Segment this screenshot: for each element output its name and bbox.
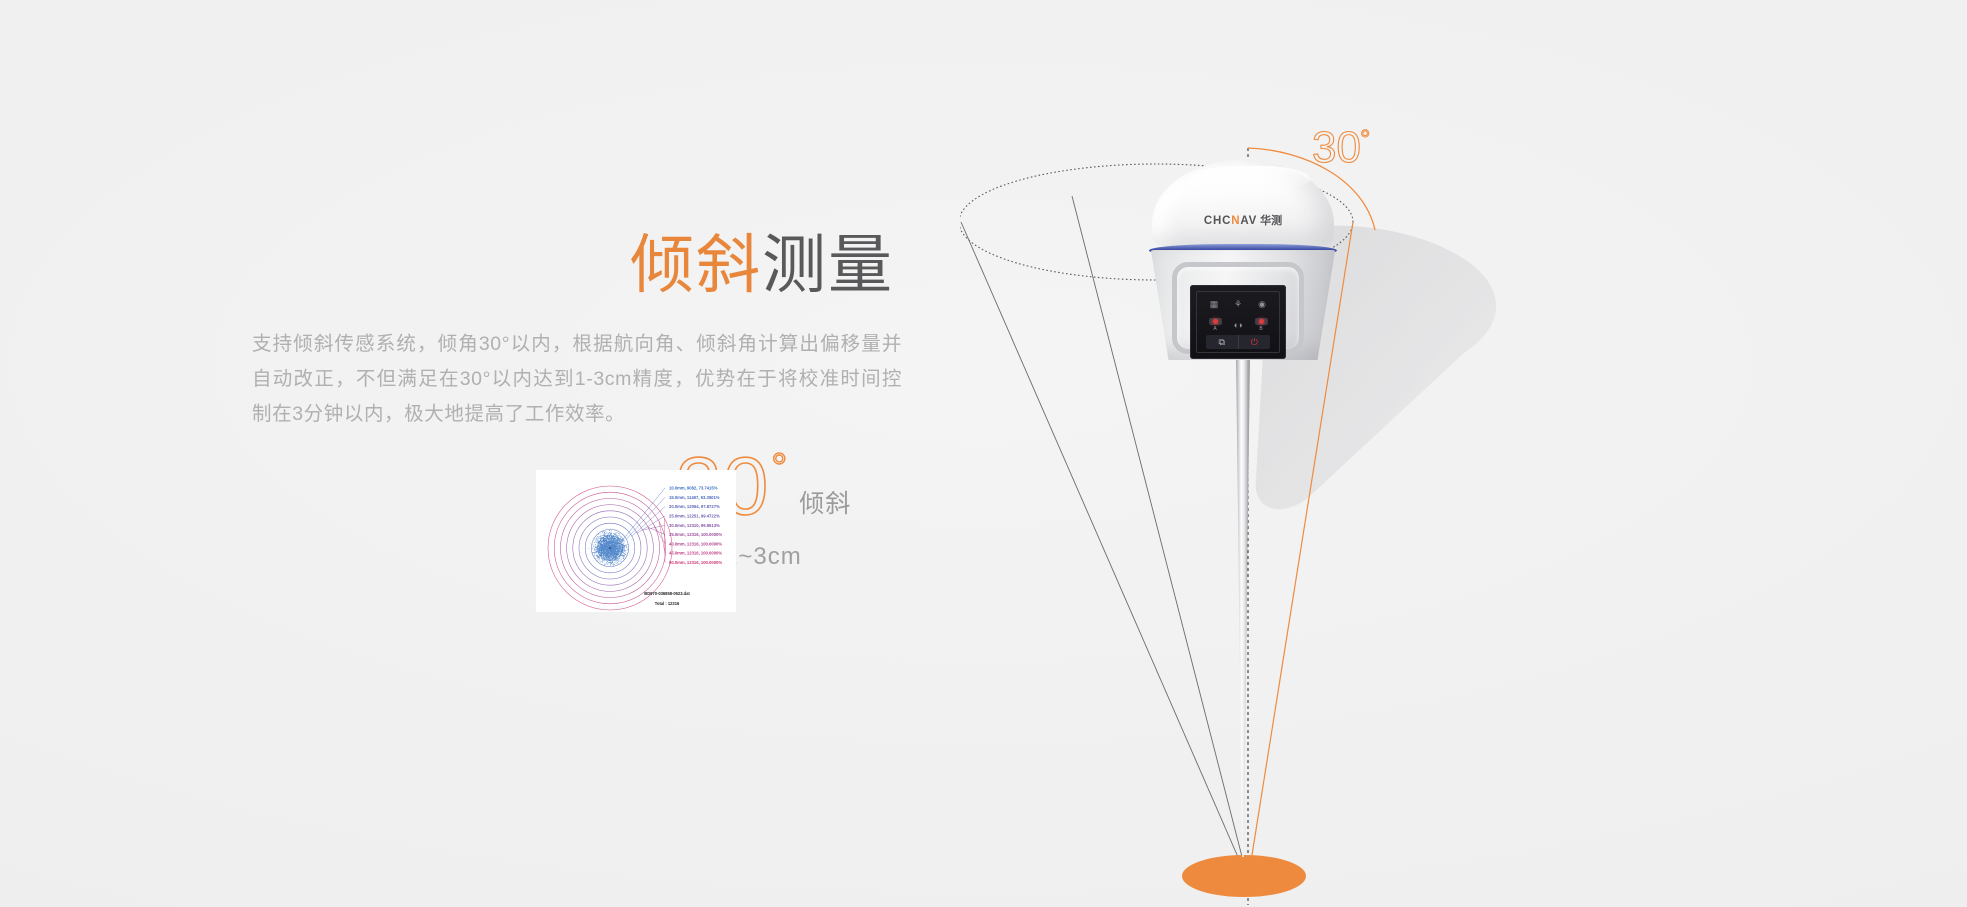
chart-ring-label: 40.0mm, 12316, 100.0000%: [669, 541, 722, 546]
led-indicator-a: A: [1209, 318, 1222, 332]
gnss-receiver: CHCNAV华测 ▦ ⚘ ◉: [1138, 160, 1348, 360]
brand-chinese: 华测: [1260, 215, 1282, 227]
page-title: 倾斜测量: [630, 232, 894, 299]
led-a-dot: [1213, 319, 1218, 324]
precision-scatter-chart: 10.0mm, 9082, 73.7415%15.0mm, 11497, 93.…: [536, 470, 736, 612]
panel-button-bar: ⧉ ⏻: [1206, 335, 1270, 349]
description-paragraph: 支持倾斜传感系统，倾角30°以内，根据航向角、倾斜角计算出偏移量并自动改正，不但…: [252, 327, 902, 432]
panel-inner-frame: ▦ ⚘ ◉ A ◖◗: [1196, 291, 1280, 353]
dome-highlight: [1190, 166, 1310, 192]
chart-ring-label: 25.0mm, 12251, 99.4722%: [669, 514, 720, 519]
brand-chc: CHC: [1204, 215, 1231, 227]
chart-ring-label: 35.0mm, 12316, 100.0000%: [669, 532, 722, 537]
led-a-box: [1209, 318, 1222, 325]
chart-ring-label: 45.0mm, 12316, 100.0000%: [669, 551, 722, 556]
brand-n: N: [1231, 215, 1240, 227]
ground-point-marker: [1182, 855, 1306, 897]
tilt-cone-diagram: 30 °: [960, 0, 1967, 907]
chart-svg: 10.0mm, 9082, 73.7415%15.0mm, 11497, 93.…: [536, 470, 736, 612]
chart-ring-label: 15.0mm, 11497, 93.3501%: [669, 495, 720, 500]
page-title-dark: 测量: [762, 229, 894, 301]
tilt-angle-degree-icon: °: [1360, 124, 1370, 154]
chart-ring-label: 30.0mm, 12310, 99.9513%: [669, 523, 720, 528]
receiver-control-panel[interactable]: ▦ ⚘ ◉ A ◖◗: [1190, 285, 1286, 359]
chart-leader-line: [632, 507, 665, 537]
led-b-box: [1255, 318, 1268, 325]
signal-wave-icon: ◖◗: [1233, 320, 1244, 330]
description-text: 支持倾斜传感系统，倾角30°以内，根据航向角、倾斜角计算出偏移量并自动改正，不但…: [252, 327, 902, 432]
power-button[interactable]: ⏻: [1238, 335, 1271, 349]
satellite-icon: ▦: [1209, 299, 1220, 309]
led-b-dot: [1259, 319, 1264, 324]
tilt-survey-promo-page: 倾斜测量 支持倾斜传感系统，倾角30°以内，根据航向角、倾斜角计算出偏移量并自动…: [0, 0, 1967, 907]
data-icon: ◉: [1257, 299, 1268, 309]
chart-file-name: BD970-036858-0523.dat: [644, 591, 690, 596]
page-title-accent: 倾斜: [630, 229, 762, 301]
chart-ring-label: 50.0mm, 12316, 100.0000%: [669, 560, 722, 565]
led-b-label: B: [1259, 326, 1262, 332]
chart-ring-label: 20.0mm, 12054, 97.8727%: [669, 504, 720, 509]
function-button[interactable]: ⧉: [1206, 335, 1238, 349]
chart-ring-label: 10.0mm, 9082, 73.7415%: [669, 486, 718, 491]
radio-icon: ⚘: [1233, 299, 1244, 309]
chart-center-marker: [609, 547, 611, 549]
brand-av: AV: [1240, 215, 1257, 227]
receiver-brand-logo: CHCNAV华测: [1138, 212, 1348, 228]
panel-status-row-leds: A ◖◗ B: [1209, 318, 1268, 332]
chart-leader-line: [664, 518, 665, 562]
panel-status-row-top: ▦ ⚘ ◉: [1209, 299, 1268, 309]
receiver-antenna-dome: [1152, 160, 1334, 246]
chart-total-label: Total : 12316: [655, 601, 680, 606]
chart-ring-labels: 10.0mm, 9082, 73.7415%15.0mm, 11497, 93.…: [669, 486, 722, 565]
led-indicator-b: B: [1255, 318, 1268, 332]
led-a-label: A: [1213, 326, 1216, 332]
chart-leader-lines: [621, 488, 665, 562]
degree-symbol-icon: °: [771, 448, 787, 488]
spec-unit-label: 倾斜: [799, 484, 851, 520]
gnss-receiver-scene: 30 ° CHCNAV华测 ▦ ⚘ ◉: [960, 0, 1967, 907]
